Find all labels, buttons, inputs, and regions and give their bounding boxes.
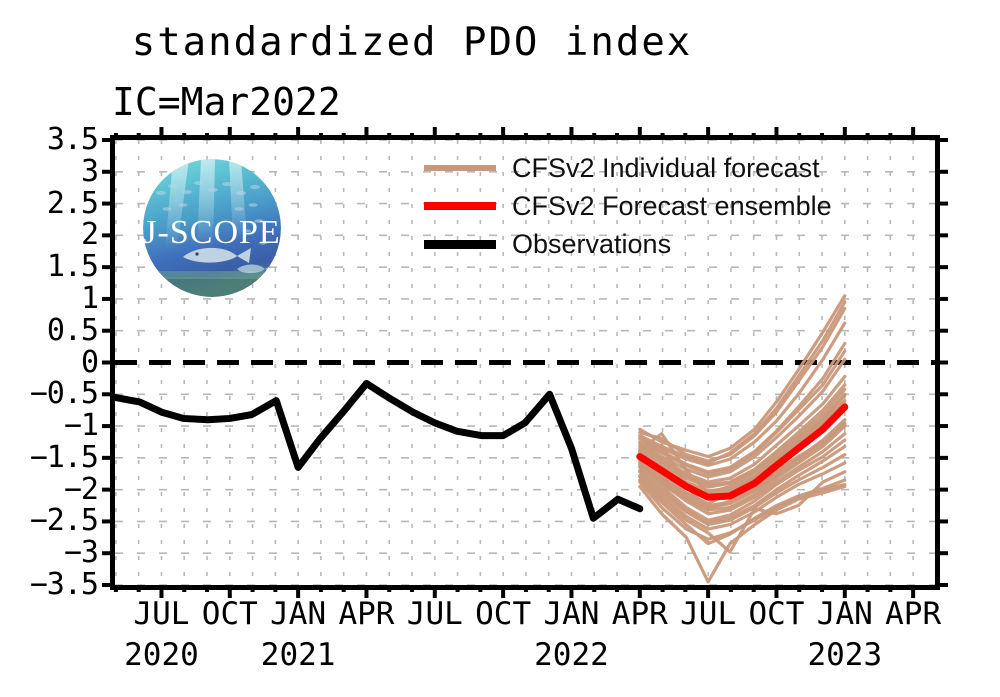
y-tick-label: −2.5 [30,506,98,536]
x-tick-label: JAN [817,596,873,632]
x-axis-labels: JULOCTJANAPRJULOCTJANAPRJULOCTJANAPR2020… [0,596,1000,696]
legend-item: Observations [424,226,671,262]
legend-swatch [424,202,496,210]
legend-item: CFSv2 Individual forecast [424,150,820,186]
x-year-label: 2023 [807,637,882,673]
y-tick-label: 0.5 [47,316,98,346]
y-tick-label: 2 [81,220,98,250]
x-tick-label: OCT [475,596,531,632]
pdo-index-chart: standardized PDO index IC=Mar2022 3.532.… [0,0,1000,697]
y-tick-label: 3.5 [47,125,98,155]
y-tick-label: −3 [64,538,98,568]
y-tick-label: 1 [81,284,98,314]
chart-title: standardized PDO index [0,20,912,65]
x-tick-label: OCT [202,596,258,632]
x-year-label: 2022 [534,637,609,673]
legend-label: CFSv2 Individual forecast [512,153,820,184]
y-tick-label: −2 [64,475,98,505]
x-tick-label: APR [612,596,668,632]
y-axis-labels: 3.532.521.510.50−0.5−1−1.5−2−2.5−3−3.5 [0,135,106,590]
x-tick-label: JAN [270,596,326,632]
x-year-label: 2020 [124,637,199,673]
y-tick-label: 0 [81,348,98,378]
x-tick-label: OCT [748,596,804,632]
observations-line [115,383,640,518]
y-tick-label: 2.5 [47,189,98,219]
legend-swatch [424,240,496,249]
x-tick-label: JUL [133,596,189,632]
y-tick-label: −1 [64,411,98,441]
x-year-label: 2021 [261,637,336,673]
chart-legend: CFSv2 Individual forecastCFSv2 Forecast … [424,150,894,270]
j-scope-logo-graphic: J-SCOPE [143,159,281,297]
y-tick-label: −0.5 [30,379,98,409]
x-tick-label: APR [338,596,394,632]
chart-subtitle: IC=Mar2022 [112,80,341,124]
j-scope-logo: J-SCOPE [143,159,281,297]
y-tick-label: 3 [81,157,98,187]
x-tick-label: JAN [543,596,599,632]
legend-label: CFSv2 Forecast ensemble [512,191,832,222]
y-tick-label: −1.5 [30,443,98,473]
svg-text:J-SCOPE: J-SCOPE [143,214,280,251]
x-tick-label: JUL [407,596,463,632]
x-tick-label: APR [885,596,941,632]
y-tick-label: 1.5 [47,252,98,282]
legend-swatch [424,165,496,171]
x-tick-label: JUL [680,596,736,632]
legend-label: Observations [512,229,671,260]
legend-item: CFSv2 Forecast ensemble [424,188,832,224]
